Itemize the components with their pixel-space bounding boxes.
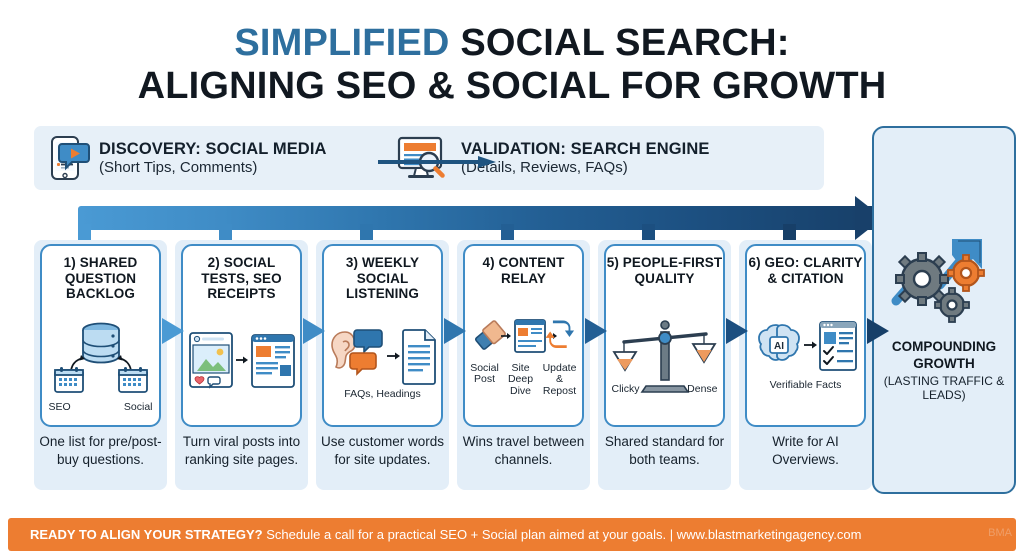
step-6-icon-label: Verifiable Facts <box>770 380 842 392</box>
step-connector-3 <box>444 318 466 344</box>
step-card-1[interactable]: 1) SHARED QUESTION BACKLOG <box>34 240 167 490</box>
phone-play-icon <box>48 134 90 182</box>
discovery-subheading: (Short Tips, Comments) <box>99 159 327 176</box>
ai-brain-checklist-icon: AI Verifia <box>747 286 864 425</box>
step-1-title: 1) SHARED QUESTION BACKLOG <box>42 255 159 302</box>
outcome-title: COMPOUNDING GROWTH <box>874 339 1014 371</box>
validation-heading: VALIDATION: SEARCH ENGINE <box>461 140 709 159</box>
step-4-icon-label-update-repost: Update & Repost <box>540 363 580 398</box>
step-3-icon-label: FAQs, Headings <box>344 389 420 401</box>
page-title: SIMPLIFIED SOCIAL SEARCH: ALIGNING SEO &… <box>0 22 1024 107</box>
infographic-page: SIMPLIFIED SOCIAL SEARCH: ALIGNING SEO &… <box>0 0 1024 559</box>
step-card-3[interactable]: 3) WEEKLY SOCIAL LISTENING <box>316 240 449 490</box>
step-card-2[interactable]: 2) SOCIAL TESTS, SEO RECEIPTS <box>175 240 308 490</box>
step-connector-4 <box>585 318 607 344</box>
step-1-caption: One list for pre/post-buy questions. <box>38 433 163 468</box>
step-1-icon-label-seo: SEO <box>49 402 71 414</box>
step-2-title: 2) SOCIAL TESTS, SEO RECEIPTS <box>183 255 300 302</box>
step-connector-5 <box>726 318 748 344</box>
step-5-title: 5) PEOPLE-FIRST QUALITY <box>606 255 723 286</box>
step-4-icon-label-social-post: Social Post <box>468 363 502 398</box>
step-card-6[interactable]: 6) GEO: CLARITY & CITATION AI <box>739 240 872 490</box>
step-3-title: 3) WEEKLY SOCIAL LISTENING <box>324 255 441 302</box>
title-line2: ALIGNING SEO & SOCIAL FOR GROWTH <box>0 65 1024 108</box>
step-5-icon-label-dense: Dense <box>687 384 717 396</box>
step-4-title: 4) CONTENT RELAY <box>465 255 582 286</box>
baton-webpage-recycle-icon: Social Post Site Deep Dive Update & Repo… <box>465 286 582 425</box>
step-4-caption: Wins travel between channels. <box>461 433 586 468</box>
step-5-icon-label-clicky: Clicky <box>612 384 640 396</box>
title-accent-word: SIMPLIFIED <box>234 22 449 64</box>
discovery-heading: DISCOVERY: SOCIAL MEDIA <box>99 140 327 159</box>
validation-subheading: (Details, Reviews, FAQs) <box>461 159 709 176</box>
balance-scale-icon: Clicky Dense <box>606 286 723 425</box>
right-arrow-icon <box>378 156 496 168</box>
svg-text:AI: AI <box>774 341 784 352</box>
step-card-5[interactable]: 5) PEOPLE-FIRST QUALITY <box>598 240 731 490</box>
cta-footer-text: READY TO ALIGN YOUR STRATEGY? Schedule a… <box>30 527 861 542</box>
step-connector-2 <box>303 318 325 344</box>
social-post-to-webpage-icon <box>183 302 300 425</box>
cta-strong-text: READY TO ALIGN YOUR STRATEGY? <box>30 527 263 542</box>
discovery-block: DISCOVERY: SOCIAL MEDIA (Short Tips, Com… <box>48 134 388 182</box>
step-6-caption: Write for AI Overviews. <box>743 433 868 468</box>
step-3-caption: Use customer words for site updates. <box>320 433 445 468</box>
step-5-caption: Shared standard for both teams. <box>602 433 727 468</box>
step-1-icon-label-social: Social <box>124 402 153 414</box>
step-connector-1 <box>162 318 184 344</box>
step-card-4[interactable]: 4) CONTENT RELAY <box>457 240 590 490</box>
outcome-panel[interactable]: COMPOUNDING GROWTH (LASTING TRAFFIC & LE… <box>872 126 1016 494</box>
step-6-title: 6) GEO: CLARITY & CITATION <box>747 255 864 286</box>
step-4-icon-label-site-deep-dive: Site Deep Dive <box>504 363 537 398</box>
process-steps: 1) SHARED QUESTION BACKLOG <box>34 240 872 490</box>
growth-arrow-gears-icon <box>886 217 1002 327</box>
outcome-subtitle: (LASTING TRAFFIC & LEADS) <box>874 374 1014 403</box>
cta-footer-banner[interactable]: READY TO ALIGN YOUR STRATEGY? Schedule a… <box>8 518 1016 551</box>
ear-comments-document-icon: FAQs, Headings <box>324 302 441 425</box>
step-2-caption: Turn viral posts into ranking site pages… <box>179 433 304 468</box>
watermark-text: BMA <box>988 527 1012 539</box>
cta-rest-text: Schedule a call for a practical SEO + So… <box>263 527 862 542</box>
database-calendars-icon: SEO Social <box>42 302 159 425</box>
gradient-process-arrow <box>78 206 878 230</box>
title-line1-rest: SOCIAL SEARCH: <box>450 22 790 64</box>
step-connector-6 <box>867 318 889 344</box>
